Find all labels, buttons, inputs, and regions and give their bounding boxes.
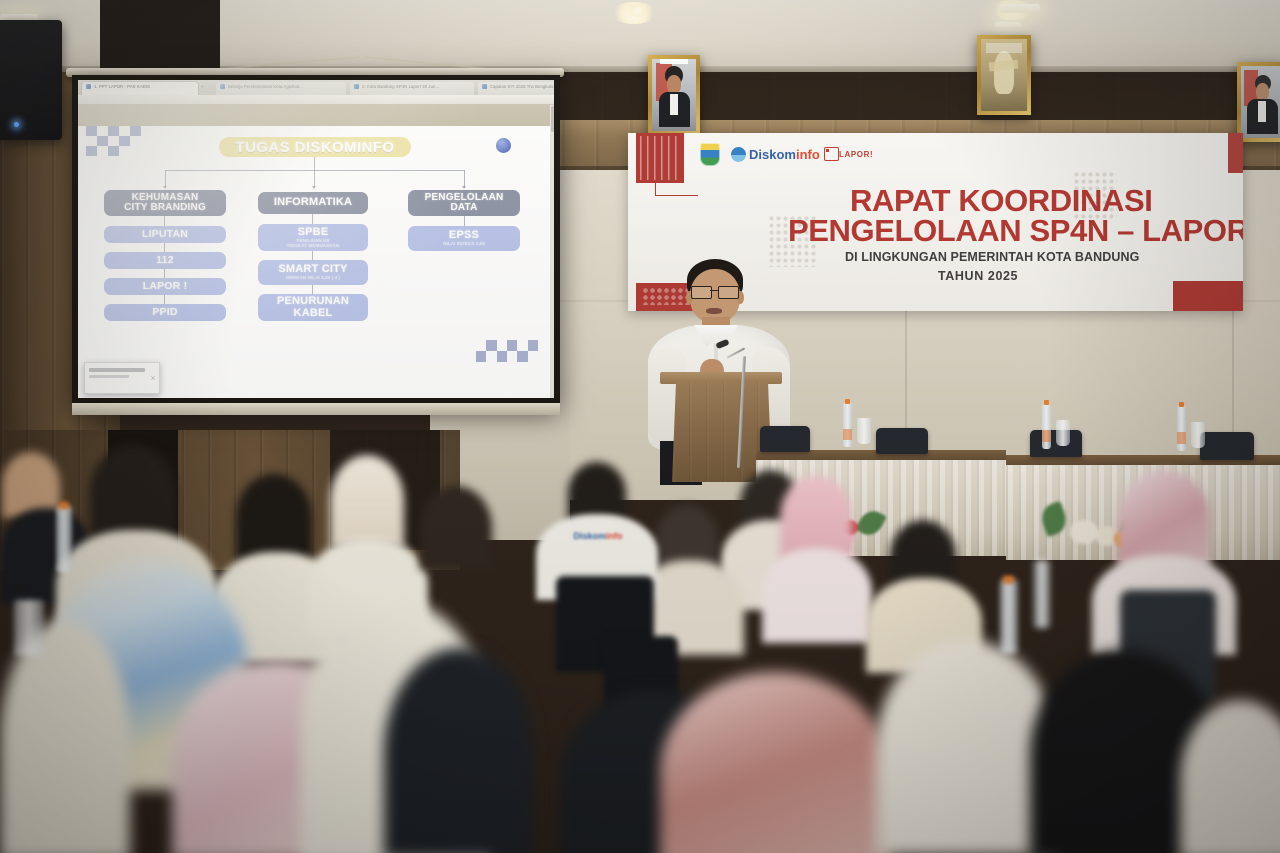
node-label-line2: CITY BRANDING — [124, 203, 206, 213]
browser-scrollbar[interactable] — [550, 104, 554, 398]
audience-foreground-person-5 — [876, 640, 1056, 853]
node-lapor: LAPOR ! — [104, 278, 226, 295]
bandung-city-seal-icon — [700, 143, 720, 166]
node-sublabel: NILAI INDEKS 3,06 — [443, 242, 485, 247]
head-table-chair-1[interactable] — [760, 426, 810, 452]
notification-close-icon[interactable] — [151, 367, 155, 371]
node-smart-city: SMART CITY DENGAN NILAI 3,33 ( 4 ) — [258, 260, 368, 285]
leaf — [1038, 501, 1071, 537]
diskominfo-logo-text-b: info — [796, 147, 820, 162]
c1-link-1 — [164, 216, 165, 226]
foreground-bottle-3 — [1034, 560, 1050, 628]
water-bottle-2 — [1042, 404, 1051, 449]
lapor-logo-icon — [824, 147, 839, 161]
slide-title: TUGAS DISKOMINFO — [219, 137, 411, 157]
node-liputan: LIPUTAN — [104, 226, 226, 243]
node-label: INFORMATIKA — [274, 197, 352, 208]
banner-subtitle-line2: TAHUN 2025 — [938, 269, 1018, 283]
slide-top-band — [78, 104, 550, 126]
screen-notification-popup[interactable] — [84, 362, 160, 394]
projector-screen-surface: 1. PPT LAPOR - PAK KADIS + Belanja Perek… — [78, 80, 554, 398]
notification-line-2 — [89, 375, 129, 378]
audience-foreground-hijab-brown — [660, 672, 890, 853]
node-informatika: INFORMATIKA — [258, 192, 368, 214]
node-label: 112 — [156, 255, 174, 266]
diskominfo-logo-text-a: Diskom — [749, 147, 796, 162]
browser-tab-strip: 1. PPT LAPOR - PAK KADIS + Belanja Perek… — [78, 80, 554, 95]
arrow-mid — [312, 186, 316, 189]
banner-title-line2: PENGELOLAAN SP4N – LAPOR! — [788, 213, 1243, 249]
garuda-emblem-image — [981, 39, 1027, 111]
notification-line-1 — [89, 368, 145, 372]
node-112: 112 — [104, 252, 226, 269]
node-label-line2: DATA — [450, 203, 477, 213]
tab-favicon-4 — [482, 84, 487, 89]
presentation-slide: TUGAS DISKOMINFO KEHUMASAN CITY BRANDING… — [78, 104, 550, 398]
strip-light-right — [995, 22, 1021, 28]
node-label: LIPUTAN — [142, 229, 188, 240]
foreground-bottle-2 — [1000, 580, 1018, 654]
wall-loudspeaker — [0, 20, 62, 140]
drinking-glass-2 — [1056, 420, 1070, 446]
browser-tab-title-4: Capaian SYI 2025 Trw Bengkulu I A... — [490, 80, 554, 93]
audience-foreground-person-2 — [384, 648, 534, 853]
leaf — [855, 506, 887, 539]
node-label-2: KABEL — [294, 308, 333, 319]
checker-decoration-top-left — [86, 126, 152, 156]
c2-link-3 — [312, 285, 313, 294]
tab-favicon-3 — [354, 84, 359, 89]
node-label: PENURUNAN — [277, 296, 349, 307]
banner-notch-line — [655, 183, 698, 196]
water-bottle-1 — [843, 403, 852, 447]
head-table-chair-4[interactable] — [1200, 432, 1254, 460]
checker-decoration-bottom-right — [476, 340, 538, 362]
node-label: EPSS — [449, 230, 479, 241]
speaker-mouth — [706, 308, 722, 314]
node-sublabel: DENGAN NILAI 3,33 ( 4 ) — [286, 276, 340, 281]
water-bottle-3 — [1177, 406, 1186, 451]
node-penurunan-kabel: PENURUNAN KABEL — [258, 294, 368, 321]
strip-light-center — [1000, 4, 1040, 13]
foreground-table-glass — [14, 600, 44, 656]
speaker-eyeglasses-icon — [690, 286, 740, 297]
c1-link-3 — [164, 269, 165, 278]
c1-link-4 — [164, 295, 165, 304]
president-portrait-image — [652, 59, 696, 131]
diskominfo-badge-icon — [496, 138, 511, 153]
c2-link-1 — [312, 214, 313, 224]
node-pengelolaan-data: PENGELOLAAN DATA — [408, 190, 520, 216]
node-spbe: SPBE PENILAIAN KE TINGKAT MEMUASKAN — [258, 224, 368, 251]
c3-link-1 — [464, 216, 465, 226]
node-ppid: PPID — [104, 304, 226, 321]
tab-favicon-1 — [86, 84, 91, 89]
banner-batik-pattern — [640, 136, 680, 180]
browser-tab-title-1: 1. PPT LAPOR - PAK KADIS — [94, 80, 190, 93]
drinking-glass-3 — [1191, 422, 1205, 448]
diskominfo-mark-icon — [731, 147, 746, 162]
flower — [1070, 520, 1098, 544]
president-portrait-frame — [648, 55, 700, 135]
head-table-chair-2[interactable] — [876, 428, 928, 454]
foreground-water-bottle — [56, 506, 72, 572]
audience-person-left-2 — [90, 445, 176, 541]
c2-link-2 — [312, 251, 313, 260]
vice-president-portrait-frame — [1237, 62, 1280, 142]
drinking-glass-1 — [857, 418, 871, 444]
node-epss: EPSS NILAI INDEKS 3,06 — [408, 226, 520, 251]
arrow-left — [163, 186, 167, 189]
foreground-bottle-cap — [59, 502, 69, 509]
conference-room-photo: 1. PPT LAPOR - PAK KADIS + Belanja Perek… — [0, 0, 1280, 853]
audience-body-hijab-1 — [762, 548, 872, 643]
arrow-right — [462, 186, 466, 189]
vice-president-portrait-image — [1241, 66, 1280, 138]
downlight-3 — [625, 4, 651, 17]
diskominfo-shirt-logo-text: Diskominfo — [562, 531, 634, 542]
foreground-bottle-2-cap — [1003, 576, 1014, 583]
banner-subtitle-line1: DI LINGKUNGAN PEMERINTAH KOTA BANDUNG — [845, 250, 1139, 264]
node-label: LAPOR ! — [143, 281, 188, 292]
audience-hijab-cream-1 — [330, 455, 404, 547]
tab-favicon-2 — [220, 84, 225, 89]
browser-tab-title-3: 2. Kota Bandung SP4N Lapor! 30 Jun... — [362, 80, 470, 93]
audience-person-left-3 — [236, 474, 312, 562]
lapor-logo-text: LAPOR! — [839, 150, 873, 159]
node-label: PPID — [152, 307, 177, 318]
node-label: SMART CITY — [278, 264, 347, 275]
projector-screen-bottom-shadow — [72, 403, 560, 415]
loudspeaker-led — [14, 122, 19, 127]
c1-link-2 — [164, 243, 165, 252]
audience-person-left-4 — [420, 486, 492, 570]
node-sublabel: PENILAIAN KE TINGKAT MEMUASKAN — [287, 239, 340, 248]
connector-trunk — [314, 157, 315, 171]
garuda-emblem-frame — [977, 35, 1031, 115]
banner-accent-bottom-right — [1173, 281, 1243, 311]
node-label: SPBE — [298, 227, 329, 238]
node-kehumasan-city-branding: KEHUMASAN CITY BRANDING — [104, 190, 226, 216]
browser-tab-title-2: Belanja Perekonomian Kota Agustus... — [228, 80, 342, 93]
banner-accent-right-edge — [1228, 133, 1243, 173]
new-tab-button[interactable]: + — [201, 80, 209, 93]
